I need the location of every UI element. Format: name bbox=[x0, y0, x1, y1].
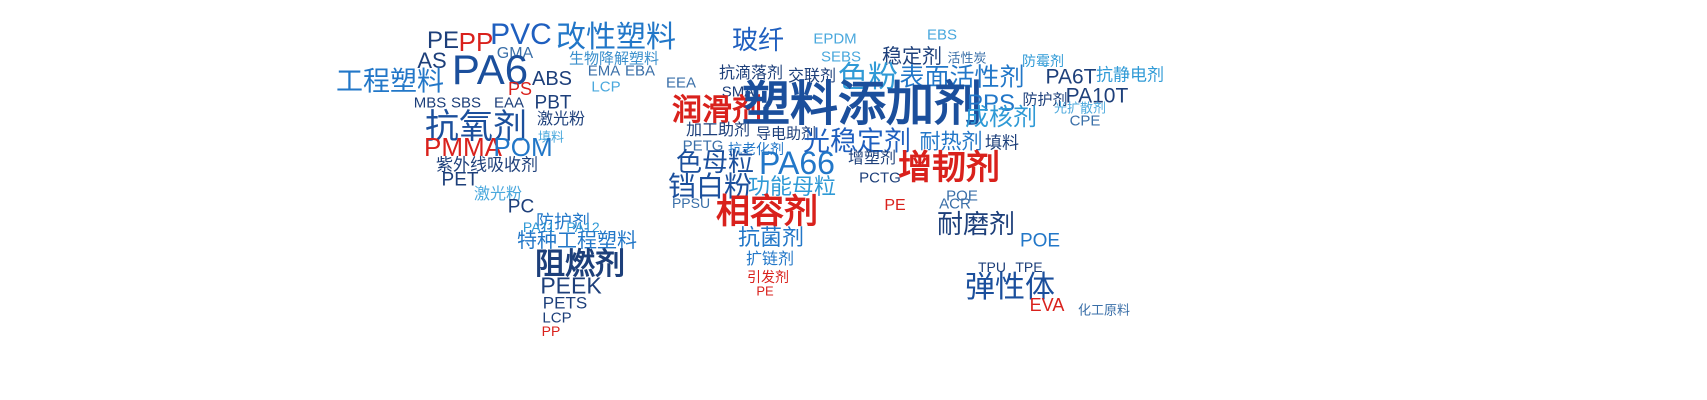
wordcloud-term[interactable]: PS bbox=[508, 80, 532, 98]
wordcloud-term[interactable]: PP bbox=[542, 324, 561, 338]
wordcloud-term[interactable]: 增塑剂 bbox=[848, 151, 896, 167]
wordcloud-term[interactable]: POE bbox=[1020, 232, 1060, 251]
wordcloud-term[interactable]: 相容剂 bbox=[716, 195, 818, 229]
wordcloud-term[interactable]: 塑料添加剂 bbox=[742, 81, 982, 129]
wordcloud-term[interactable]: 引发剂 bbox=[747, 270, 789, 284]
wordcloud-term[interactable]: LCP bbox=[591, 80, 620, 95]
wordcloud-term[interactable]: EBS bbox=[927, 28, 957, 43]
wordcloud-term[interactable]: 化工原料 bbox=[1078, 304, 1130, 317]
wordcloud-term[interactable]: 抗菌剂 bbox=[738, 227, 804, 249]
wordcloud-term[interactable]: EPDM bbox=[813, 32, 856, 47]
wordcloud-term[interactable]: PBT bbox=[535, 94, 572, 113]
wordcloud-term[interactable]: PCTG bbox=[859, 171, 901, 186]
wordcloud-term[interactable]: PE bbox=[756, 285, 773, 298]
wordcloud-term[interactable]: CPE bbox=[1070, 114, 1101, 129]
wordcloud-term[interactable]: 扩链剂 bbox=[746, 252, 794, 268]
wordcloud-term[interactable]: PC bbox=[508, 198, 534, 217]
wordcloud-term[interactable]: PE bbox=[884, 198, 905, 214]
wordcloud-term[interactable]: 激光粉 bbox=[537, 112, 585, 128]
wordcloud-term[interactable]: EBA bbox=[625, 64, 655, 79]
wordcloud-term[interactable]: PET bbox=[442, 171, 479, 190]
wordcloud-term[interactable]: PPSU bbox=[672, 196, 710, 210]
wordcloud-term[interactable]: 改性塑料 bbox=[556, 23, 676, 53]
wordcloud-term[interactable]: ABS bbox=[532, 69, 572, 89]
wordcloud-term[interactable]: EEA bbox=[666, 76, 696, 91]
wordcloud-term[interactable]: 成核剂 bbox=[965, 106, 1037, 130]
wordcloud-term[interactable]: EVA bbox=[1030, 296, 1065, 314]
wordcloud-term[interactable]: EMA bbox=[588, 64, 621, 79]
wordcloud-term[interactable]: 工程塑料 bbox=[336, 69, 444, 96]
wordcloud-term[interactable]: 增韧剂 bbox=[898, 151, 1000, 185]
wordcloud-term[interactable]: 抗静电剂 bbox=[1096, 67, 1164, 84]
wordcloud-term[interactable]: 玻纤 bbox=[732, 27, 784, 53]
wordcloud-term[interactable]: 耐磨剂 bbox=[937, 211, 1015, 237]
wordcloud-canvas: PEPPPVCGMA改性塑料生物降解塑料玻纤EPDMEBSASPA6ABSEMA… bbox=[0, 0, 1707, 400]
